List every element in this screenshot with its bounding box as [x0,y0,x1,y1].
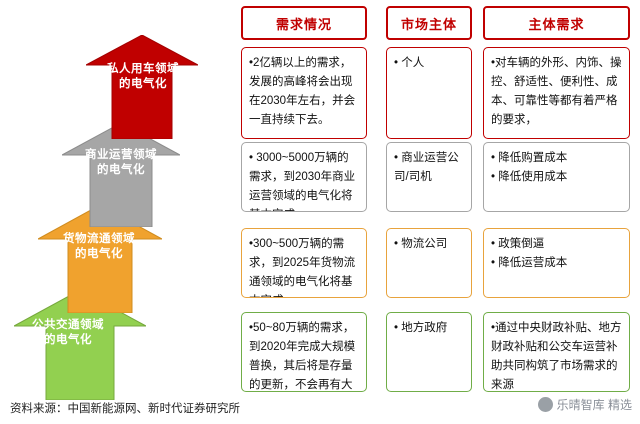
diagram-canvas: 需求情况 市场主体 主体需求 公共交通领域的电气化 货物流通领域的电气化 商业运… [0,0,640,424]
column-header-demand: 需求情况 [241,6,367,40]
cell-demand-public: •50~80万辆的需求，到2020年完成大规模普换，其后将是存量的更新，不会再有… [241,312,367,392]
cell-subject-demand-commercial: • 降低购置成本 • 降低使用成本 [483,142,630,212]
arrow-label-logistics: 货物流通领域的电气化 [60,232,138,262]
column-header-subject-demand: 主体需求 [483,6,630,40]
cell-demand-private: •2亿辆以上的需求，发展的高峰将会出现在2030年左右，并会一直持续下去。 [241,47,367,139]
circle-logo-icon [538,397,553,412]
cell-demand-commercial: • 3000~5000万辆的需求，到2030年商业运营领域的电气化将基本完成 [241,142,367,212]
watermark-text: 乐晴智库 精选 [557,396,632,413]
arrow-label-private-car: 私人用车领域的电气化 [104,62,182,92]
source-note: 资料来源：中国新能源网、新时代证券研究所 [10,400,240,416]
cell-subject-public: • 地方政府 [386,312,472,392]
cell-subject-commercial: • 商业运营公司/司机 [386,142,472,212]
cell-subject-private: • 个人 [386,47,472,139]
cell-subject-demand-logistics: • 政策倒逼 • 降低运营成本 [483,228,630,298]
column-header-subject: 市场主体 [386,6,472,40]
cell-demand-logistics: •300~500万辆的需求，到2025年货物流通领域的电气化将基本完成。 [241,228,367,298]
watermark: 乐晴智库 精选 [538,396,632,413]
cell-subject-demand-private: •对车辆的外形、内饰、操控、舒适性、便利性、成本、可靠性等都有着严格的要求， [483,47,630,139]
cell-subject-demand-public: •通过中央财政补贴、地方财政补贴和公交车运营补助共同构筑了市场需求的来源 [483,312,630,392]
cell-subject-logistics: • 物流公司 [386,228,472,298]
arrow-label-commercial: 商业运营领域的电气化 [82,148,160,178]
arrow-label-public-transport: 公共交通领域的电气化 [29,318,107,348]
